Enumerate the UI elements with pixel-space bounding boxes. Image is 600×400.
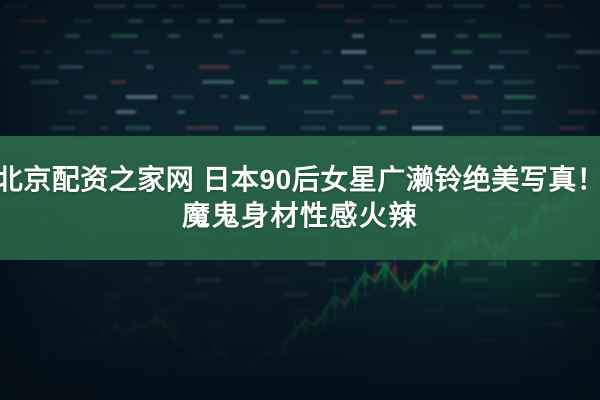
headline-line-1: 北京配资之家网 日本90后女星广濑铃绝美写真！: [0, 163, 600, 197]
headline-band: 北京配资之家网 日本90后女星广濑铃绝美写真！ 魔鬼身材性感火辣: [0, 136, 600, 260]
band-tint: [0, 136, 600, 260]
headline-line-2: 魔鬼身材性感火辣: [182, 199, 418, 233]
screenshot-root: 北京配资之家网 日本90后女星广濑铃绝美写真！ 魔鬼身材性感火辣: [0, 0, 600, 400]
